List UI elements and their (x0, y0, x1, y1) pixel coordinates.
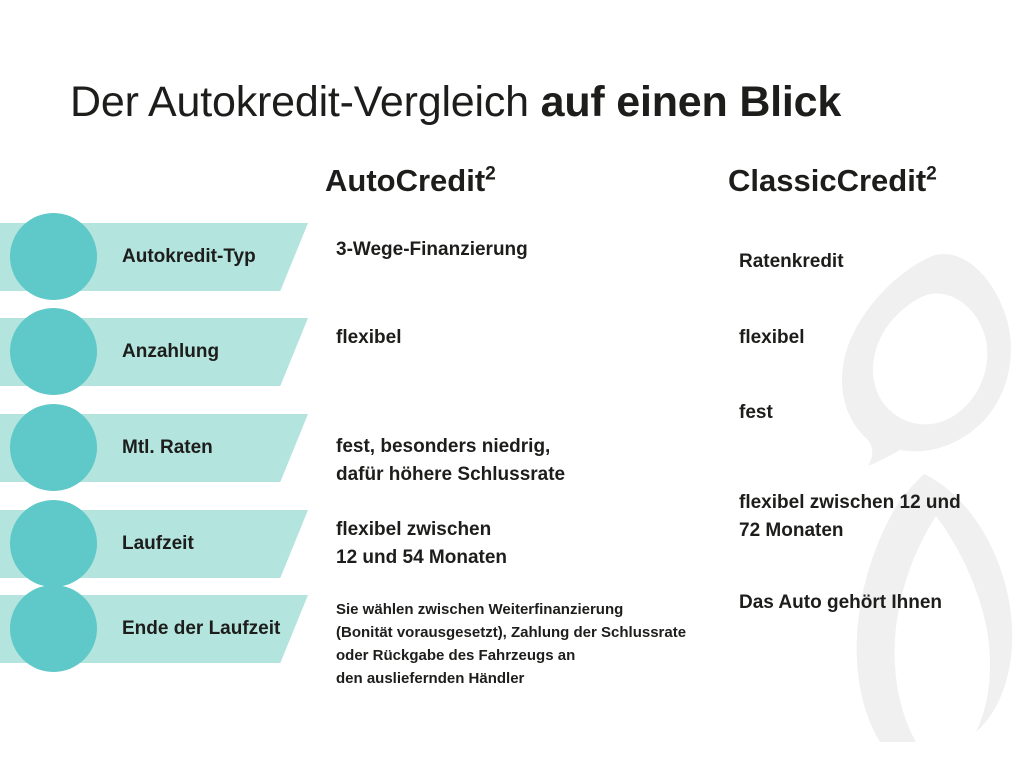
column-header-autocredit-superscript: 2 (485, 164, 496, 185)
cell-classic-mtl-raten: fest (739, 399, 1019, 427)
comparison-infographic: Der Autokredit-Vergleich auf einen Blick… (0, 0, 1024, 768)
row-label-text: Laufzeit (122, 500, 302, 587)
row-label-ende-der-laufzeit: Ende der Laufzeit (0, 585, 320, 681)
row-label-anzahlung: Anzahlung (0, 308, 320, 404)
cell-classic-laufzeit: flexibel zwischen 12 und 72 Monaten (739, 489, 1024, 545)
label-circle-icon (10, 585, 97, 672)
row-label-text: Autokredit-Typ (122, 213, 302, 300)
row-label-autokredit-typ: Autokredit-Typ (0, 213, 320, 309)
cell-auto-anzahlung: flexibel (336, 324, 736, 352)
column-header-classiccredit: ClassicCredit2 (728, 163, 937, 199)
column-header-autocredit-name: AutoCredit (325, 163, 485, 198)
page-title-regular: Der Autokredit-Vergleich (70, 78, 541, 126)
cell-classic-ende-der-laufzeit: Das Auto gehört Ihnen (739, 589, 1024, 617)
label-circle-icon (10, 404, 97, 491)
row-label-mtl-raten: Mtl. Raten (0, 404, 320, 500)
cell-classic-anzahlung: flexibel (739, 324, 1019, 352)
row-label-text: Mtl. Raten (122, 404, 302, 491)
label-circle-icon (10, 308, 97, 395)
label-circle-icon (10, 500, 97, 587)
page-title: Der Autokredit-Vergleich auf einen Blick (70, 76, 841, 128)
column-header-classiccredit-superscript: 2 (926, 164, 937, 185)
row-label-text: Anzahlung (122, 308, 302, 395)
cell-classic-autokredit-typ: Ratenkredit (739, 248, 1019, 276)
cell-auto-mtl-raten: fest, besonders niedrig, dafür höhere Sc… (336, 433, 736, 489)
page-title-bold: auf einen Blick (541, 78, 841, 126)
row-label-text: Ende der Laufzeit (122, 585, 302, 672)
cell-auto-ende-der-laufzeit: Sie wählen zwischen Weiterfinanzierung (… (336, 598, 756, 690)
row-label-laufzeit: Laufzeit (0, 500, 320, 596)
cell-auto-laufzeit: flexibel zwischen 12 und 54 Monaten (336, 516, 736, 572)
label-circle-icon (10, 213, 97, 300)
column-header-classiccredit-name: ClassicCredit (728, 163, 926, 198)
cell-auto-autokredit-typ: 3-Wege-Finanzierung (336, 236, 736, 264)
column-header-autocredit: AutoCredit2 (325, 163, 496, 199)
